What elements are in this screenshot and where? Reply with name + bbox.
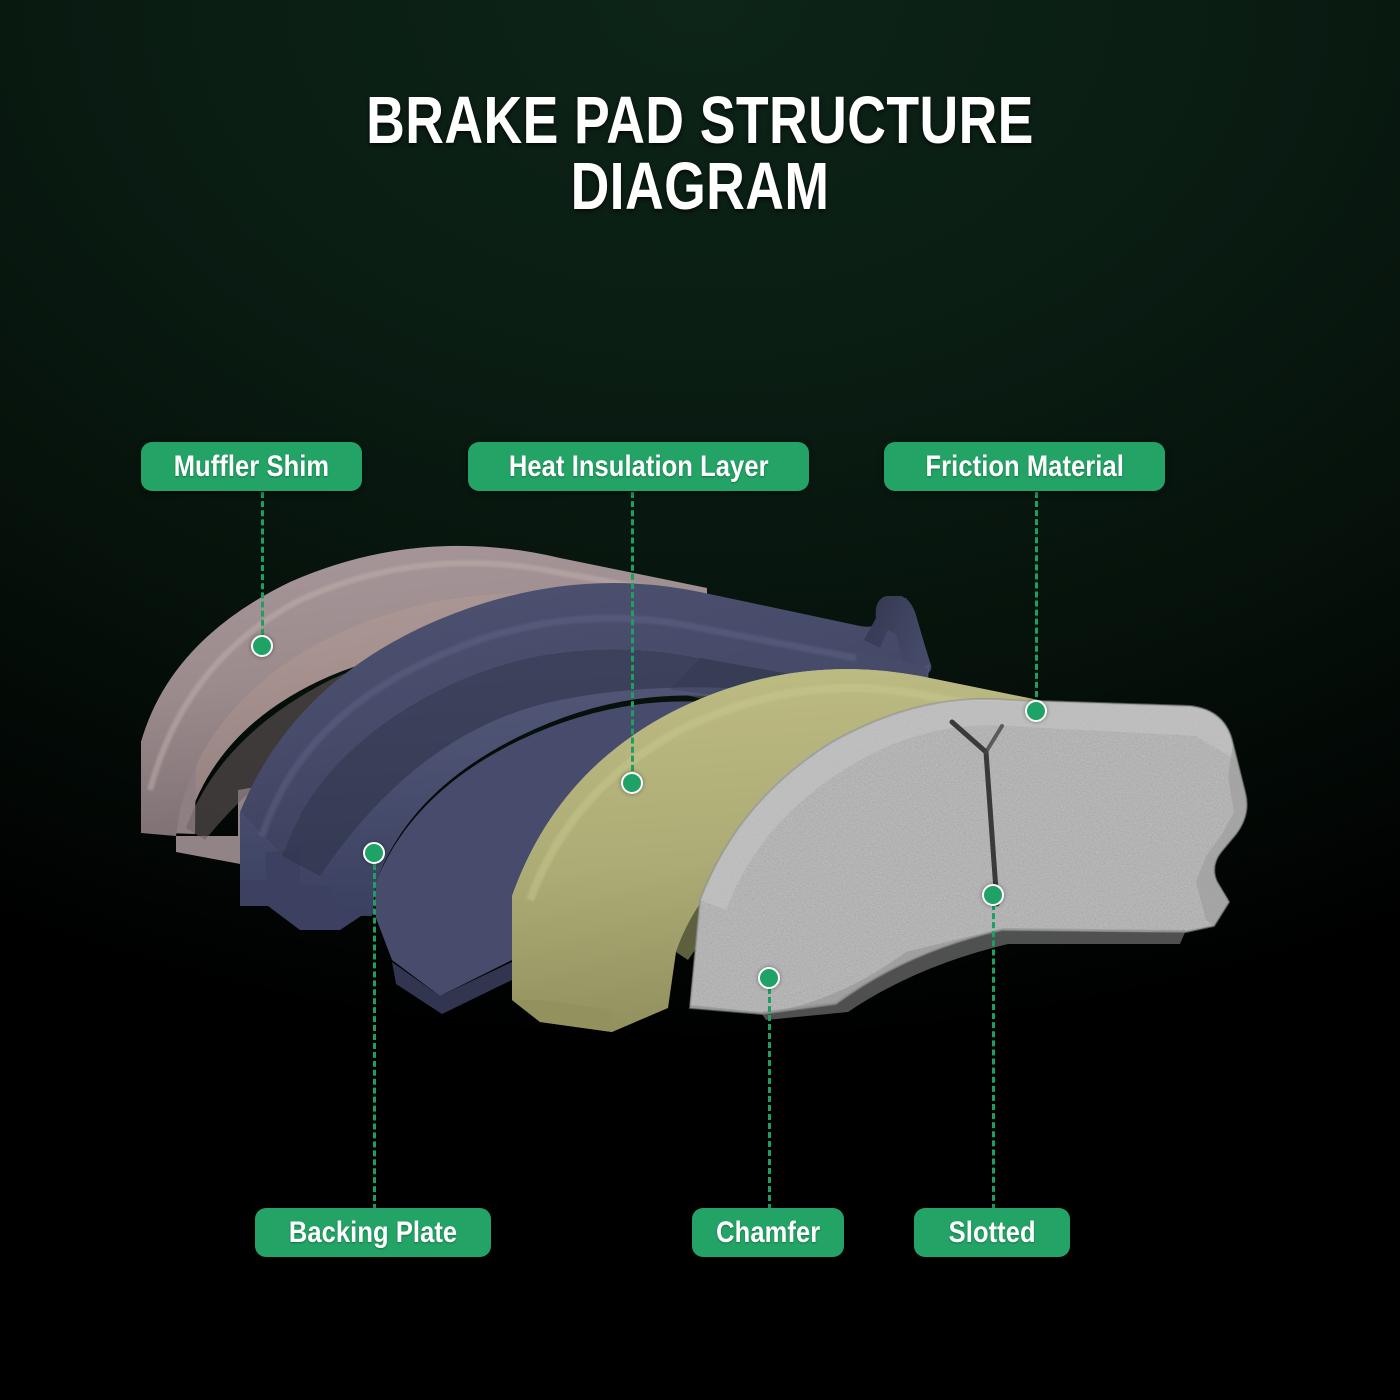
- label-slotted-text: Slotted: [948, 1218, 1035, 1248]
- connector-dot-slotted: [982, 884, 1004, 906]
- label-backing-plate[interactable]: Backing Plate: [255, 1208, 491, 1257]
- label-heat-insulation-layer[interactable]: Heat Insulation Layer: [468, 442, 809, 491]
- label-chamfer[interactable]: Chamfer: [692, 1208, 844, 1257]
- label-muffler-shim[interactable]: Muffler Shim: [141, 442, 362, 491]
- page-title-line-1: BRAKE PAD STRUCTURE: [366, 83, 1034, 158]
- leader-line-backing-plate: [373, 864, 376, 1210]
- label-friction-material-text: Friction Material: [925, 452, 1123, 482]
- leader-line-friction-material: [1035, 492, 1038, 706]
- component-muffler-shim: [141, 546, 712, 870]
- friction-slot: [952, 722, 1002, 904]
- leader-line-muffler-shim: [261, 492, 264, 644]
- label-heat-insulation-layer-text: Heat Insulation Layer: [509, 452, 769, 482]
- page-title: BRAKE PAD STRUCTURE DIAGRAM: [140, 88, 1260, 219]
- connector-dot-backing-plate: [363, 842, 385, 864]
- label-backing-plate-text: Backing Plate: [289, 1218, 457, 1248]
- component-backing-plate: [240, 583, 931, 1014]
- leader-line-heat-insulation: [631, 492, 634, 780]
- leader-line-chamfer: [768, 988, 771, 1210]
- connector-dot-heat-insulation: [621, 772, 643, 794]
- connector-dot-friction-material: [1025, 700, 1047, 722]
- leader-line-slotted: [992, 904, 995, 1210]
- label-chamfer-text: Chamfer: [716, 1218, 820, 1248]
- page-title-line-2: DIAGRAM: [140, 154, 1260, 220]
- connector-dot-muffler-shim: [251, 635, 273, 657]
- component-heat-insulation-layer: [512, 669, 1050, 1032]
- label-slotted[interactable]: Slotted: [914, 1208, 1070, 1257]
- label-friction-material[interactable]: Friction Material: [884, 442, 1165, 491]
- brake-pad-diagram-page: BRAKE PAD STRUCTURE DIAGRAM: [0, 0, 1400, 1400]
- connector-dot-chamfer: [758, 967, 780, 989]
- label-muffler-shim-text: Muffler Shim: [174, 452, 329, 482]
